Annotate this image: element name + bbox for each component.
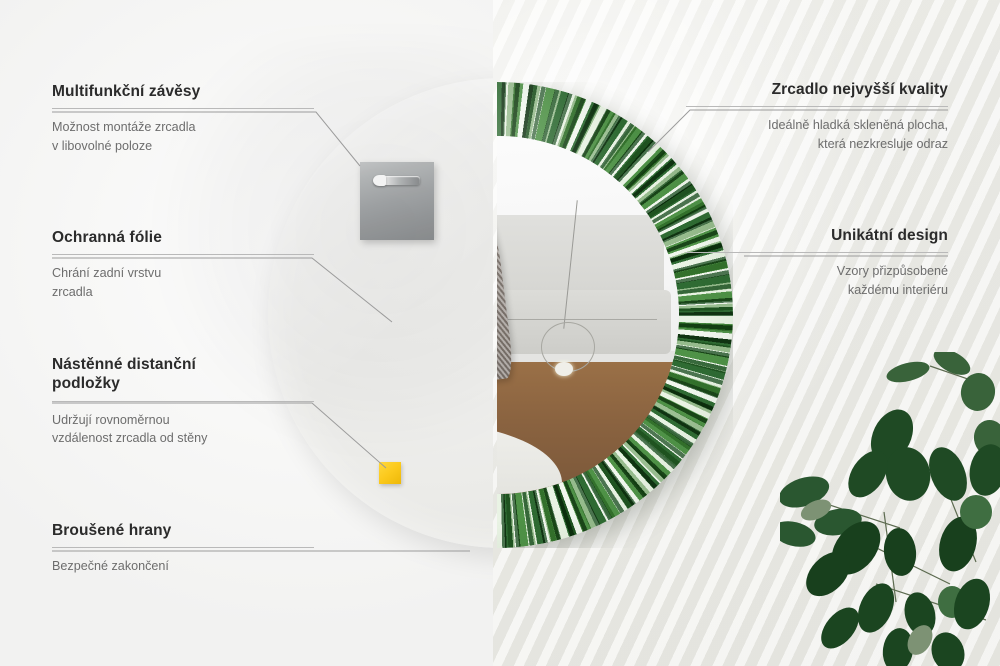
callout-title: Zrcadlo nejvyšší kvality: [686, 80, 948, 99]
callout-title: Broušené hrany: [52, 521, 314, 540]
hanger-slot: [374, 176, 420, 185]
callout-divider: [52, 547, 314, 548]
callout-divider: [686, 106, 948, 107]
hanger-keyhole: [373, 175, 386, 186]
reflected-sofa-seam: [497, 319, 657, 321]
yellow-distance-pad: [379, 462, 401, 484]
callout-body: Udržují rovnoměrnou vzdálenost zrcadla o…: [52, 411, 314, 448]
callout-divider: [52, 401, 314, 402]
callout-title: Unikátní design: [686, 226, 948, 245]
callout-title: Ochranná fólie: [52, 228, 314, 247]
callout-multifunctional-hangers: Multifunkční závěsy Možnost montáže zrca…: [52, 82, 314, 155]
callout-title: Nástěnné distanční podložky: [52, 355, 314, 394]
eucalyptus-foliage: [780, 352, 1000, 666]
reflected-lamp-bulb: [555, 362, 573, 376]
callout-body: Vzory přizpůsobené každému interiéru: [686, 262, 948, 299]
callout-body: Ideálně hladká skleněná plocha, která ne…: [686, 116, 948, 153]
callout-divider: [52, 108, 314, 109]
callout-body: Bezpečné zakončení: [52, 557, 314, 575]
mirror-glass-reflection: [497, 136, 679, 495]
callout-divider: [52, 254, 314, 255]
callout-divider: [686, 252, 948, 253]
callout-wall-spacers: Nástěnné distanční podložky Udržují rovn…: [52, 355, 314, 447]
callout-body: Možnost montáže zrcadla v libovolné polo…: [52, 118, 314, 155]
foliage-leaves-icon: [780, 352, 1000, 666]
callout-unique-design: Unikátní design Vzory přizpůsobené každé…: [686, 226, 948, 299]
callout-highest-quality-mirror: Zrcadlo nejvyšší kvality Ideálně hladká …: [686, 80, 948, 153]
callout-protective-film: Ochranná fólie Chrání zadní vrstvu zrcad…: [52, 228, 314, 301]
callout-title: Multifunkční závěsy: [52, 82, 314, 101]
metal-hanger-bracket: [360, 162, 434, 240]
callout-body: Chrání zadní vrstvu zrcadla: [52, 264, 314, 301]
callout-polished-edges: Broušené hrany Bezpečné zakončení: [52, 521, 314, 576]
product-infographic: Multifunkční závěsy Možnost montáže zrca…: [0, 0, 1000, 666]
